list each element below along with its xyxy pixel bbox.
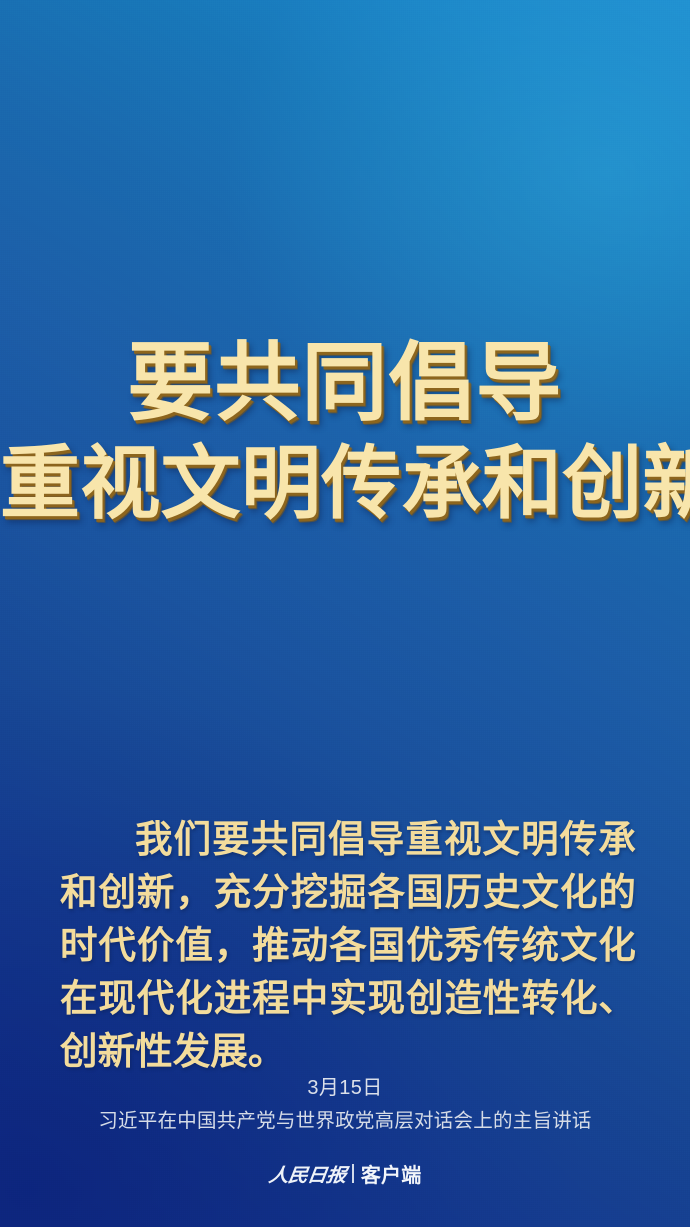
speech-source: 习近平在中国共产党与世界政党高层对话会上的主旨讲话 — [0, 1105, 690, 1137]
attribution-block: 3月15日 习近平在中国共产党与世界政党高层对话会上的主旨讲话 — [0, 1073, 690, 1137]
speech-date: 3月15日 — [0, 1073, 690, 1103]
quote-paragraph: 我们要共同倡导重视文明传承和创新，充分挖掘各国历史文化的时代价值，推动各国优秀传… — [60, 813, 636, 1078]
headline-line-1: 要共同倡导 — [0, 332, 690, 434]
poster-canvas: 要共同倡导 重视文明传承和创新 我们要共同倡导重视文明传承和创新，充分挖掘各国历… — [0, 0, 690, 1227]
publisher-logo: 人民日报 客户端 — [0, 1159, 690, 1188]
headline-line-2: 重视文明传承和创新 — [0, 434, 690, 534]
app-name-label: 客户端 — [361, 1159, 422, 1188]
logo-divider — [352, 1164, 354, 1183]
poster-content: 要共同倡导 重视文明传承和创新 我们要共同倡导重视文明传承和创新，充分挖掘各国历… — [0, 0, 690, 1227]
quote-block: 我们要共同倡导重视文明传承和创新，充分挖掘各国历史文化的时代价值，推动各国优秀传… — [60, 775, 636, 1115]
peoples-daily-wordmark-icon: 人民日报 — [267, 1160, 347, 1187]
headline: 要共同倡导 重视文明传承和创新 — [0, 332, 690, 534]
